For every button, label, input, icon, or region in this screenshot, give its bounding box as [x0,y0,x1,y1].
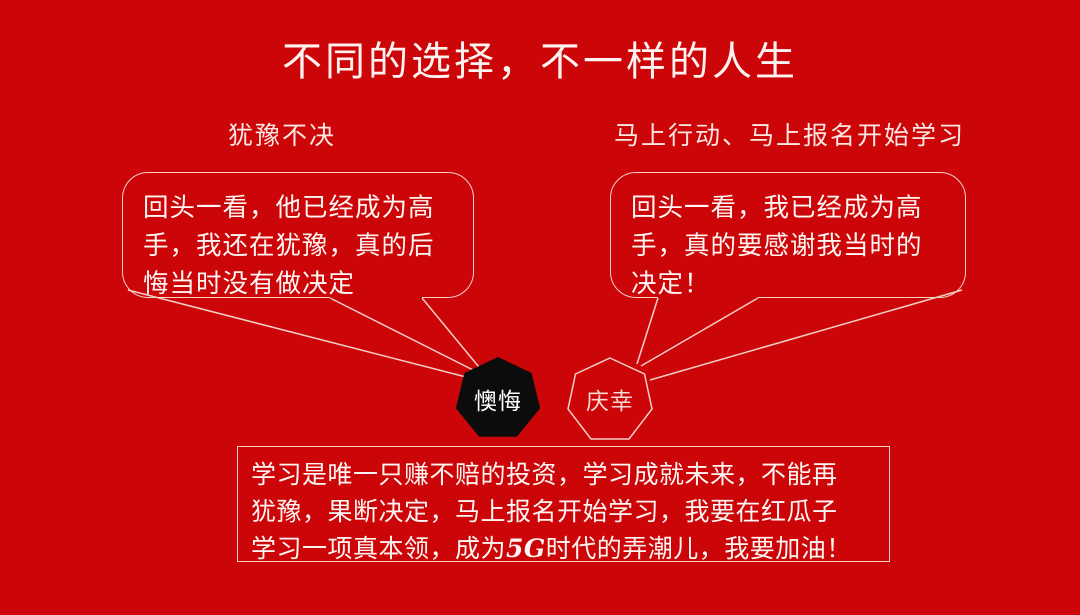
node-regret[interactable]: 懊悔 [455,357,541,441]
node-relief-label: 庆幸 [586,382,634,416]
statement-box: 学习是唯一只赚不赔的投资，学习成就未来，不能再 犹豫，果断决定，马上报名开始学习… [237,446,890,562]
column-heading-left: 犹豫不决 [228,120,336,152]
statement-line-3-part-2: 时代的弄潮儿，我要加油！ [546,534,852,563]
connector-left-long [128,290,470,378]
tail-left-b [422,298,483,372]
statement-line-3-part-1: 学习一项真本领，成为 [251,534,506,563]
node-regret-label: 懊悔 [474,382,522,416]
speech-bubble-left: 回头一看，他已经成为高手，我还在犹豫，真的后悔当时没有做决定 [122,172,474,298]
statement-line-3: 学习一项真本领，成为5G时代的弄潮儿，我要加油！ [251,530,876,567]
speech-bubble-right: 回头一看，我已经成为高手，真的要感谢我当时的决定！ [610,172,966,298]
connector-right-long [650,290,962,380]
node-relief[interactable]: 庆幸 [567,357,653,441]
tail-right-a [637,298,658,364]
column-heading-right: 马上行动、马上报名开始学习 [614,120,965,152]
tail-right-b [641,298,758,366]
statement-line-2: 犹豫，果断决定，马上报名开始学习，我要在红瓜子 [251,493,876,530]
slide-canvas: 不同的选择，不一样的人生 犹豫不决 马上行动、马上报名开始学习 回头一看，他已经… [0,0,1080,615]
statement-emphasis-5g: 5G [506,534,546,563]
statement-line-1: 学习是唯一只赚不赔的投资，学习成就未来，不能再 [251,456,876,493]
page-title: 不同的选择，不一样的人生 [0,38,1080,86]
tail-left-a [330,298,477,372]
